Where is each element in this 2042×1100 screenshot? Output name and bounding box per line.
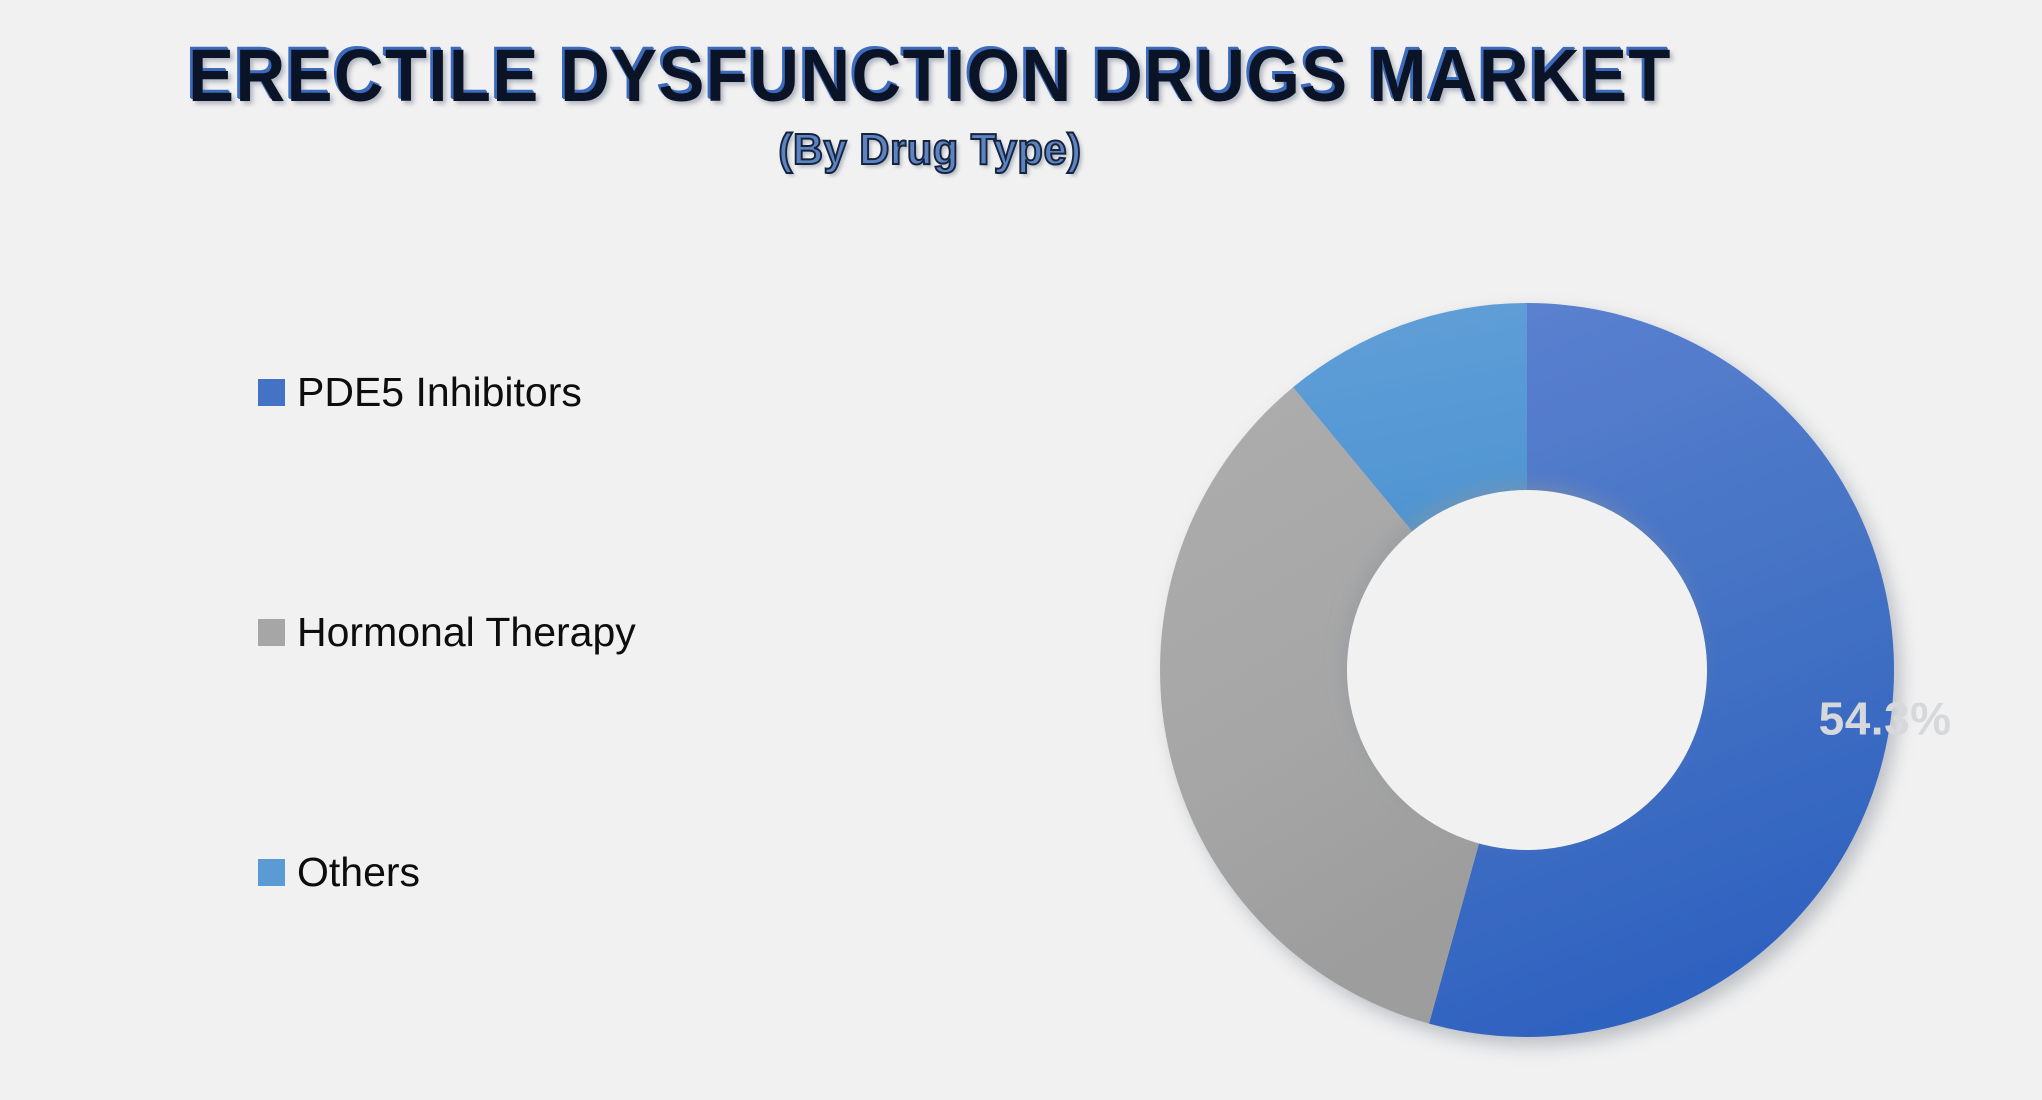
legend-label: PDE5 Inhibitors xyxy=(297,372,582,413)
donut-hole xyxy=(1347,490,1707,850)
chart-subtitle: (By Drug Type) xyxy=(47,125,1814,175)
legend-label: Others xyxy=(297,852,420,893)
donut-svg: 54.3% xyxy=(1100,243,1954,1097)
title-block: ERECTILE DYSFUNCTION DRUGS MARKET (By Dr… xyxy=(0,38,1860,175)
slice-data-label-pde5: 54.3% xyxy=(1819,693,1952,745)
donut-chart: 54.3% xyxy=(1100,243,1954,1097)
chart-legend: PDE5 Inhibitors Hormonal Therapy Others xyxy=(258,368,878,896)
legend-swatch-icon xyxy=(258,619,285,646)
legend-label: Hormonal Therapy xyxy=(297,612,636,653)
legend-item-pde5-inhibitors[interactable]: PDE5 Inhibitors xyxy=(258,368,878,416)
chart-title: ERECTILE DYSFUNCTION DRUGS MARKET xyxy=(65,38,1795,115)
legend-swatch-icon xyxy=(258,859,285,886)
legend-item-hormonal-therapy[interactable]: Hormonal Therapy xyxy=(258,608,878,656)
chart-root: ERECTILE DYSFUNCTION DRUGS MARKET (By Dr… xyxy=(0,0,2042,1100)
legend-swatch-icon xyxy=(258,379,285,406)
legend-item-others[interactable]: Others xyxy=(258,848,878,896)
